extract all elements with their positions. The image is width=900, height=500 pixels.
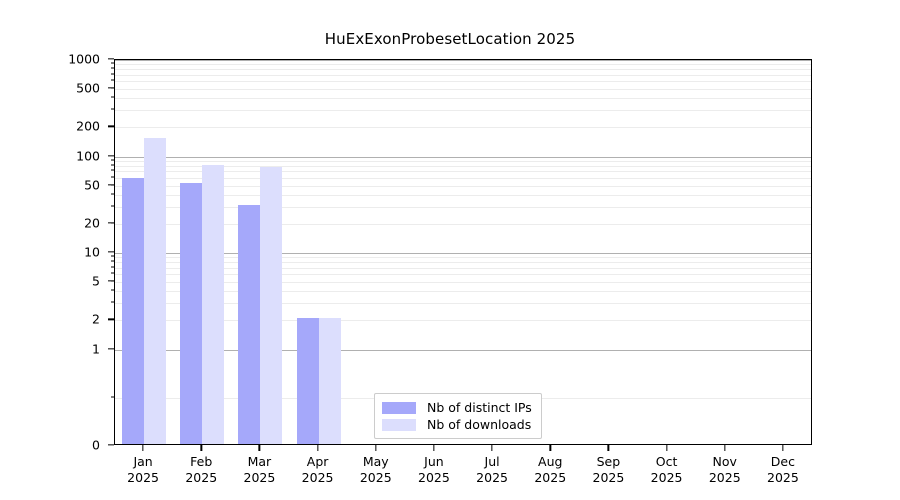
x-tick-mark	[608, 445, 609, 451]
y-tick-label: 2	[92, 312, 100, 327]
x-tick-label: Jun2025	[418, 454, 450, 486]
y-tick-label: 20	[84, 215, 100, 230]
x-tick-label: Dec2025	[767, 454, 799, 486]
bar-feb-2025-downloads	[202, 165, 224, 444]
y-tick-label: 200	[76, 119, 100, 134]
bar-feb-2025-ips	[180, 183, 202, 444]
legend-swatch-icon	[382, 419, 416, 431]
x-tick-label-month: Dec	[771, 454, 795, 469]
x-tick-label-month: Apr	[307, 454, 329, 469]
x-tick-label: Oct2025	[651, 454, 683, 486]
x-tick-mark	[201, 445, 202, 451]
chart-legend: Nb of distinct IPsNb of downloads	[374, 393, 542, 439]
x-tick-label-year: 2025	[651, 470, 683, 486]
bar-apr-2025-ips	[297, 318, 319, 444]
y-tick-label: 50	[84, 177, 100, 192]
legend-label: Nb of distinct IPs	[427, 400, 532, 415]
x-tick-mark	[724, 445, 725, 451]
bar-mar-2025-ips	[238, 205, 260, 444]
legend-item-downloads[interactable]: Nb of downloads	[382, 416, 532, 433]
legend-label: Nb of downloads	[427, 417, 531, 432]
bar-jan-2025-ips	[122, 178, 144, 444]
x-tick-label-month: Oct	[656, 454, 678, 469]
x-tick-mark	[550, 445, 551, 451]
x-tick-label-month: Feb	[190, 454, 212, 469]
y-axis: 01251020501002005001000	[0, 59, 114, 445]
page-title: HuExExonProbesetLocation 2025	[0, 30, 900, 48]
x-tick-label: Sep2025	[593, 454, 625, 486]
x-tick-label: Nov2025	[709, 454, 741, 486]
x-tick-label-year: 2025	[593, 470, 625, 486]
y-tick-label: 500	[76, 81, 100, 96]
x-tick-label-month: Sep	[597, 454, 621, 469]
legend-item-distinct-ips[interactable]: Nb of distinct IPs	[382, 399, 532, 416]
x-tick-label-month: Jul	[485, 454, 500, 469]
x-tick-mark	[259, 445, 260, 451]
y-tick-label: 1	[92, 341, 100, 356]
y-tick-label: 5	[92, 274, 100, 289]
x-tick-label: May2025	[360, 454, 392, 486]
x-tick-label-year: 2025	[244, 470, 276, 486]
bar-apr-2025-downloads	[319, 318, 341, 444]
x-tick-label-month: Jan	[133, 454, 152, 469]
x-tick-mark	[142, 445, 143, 451]
x-tick-label-year: 2025	[302, 470, 334, 486]
x-tick-label-month: Mar	[248, 454, 272, 469]
x-tick-mark	[666, 445, 667, 451]
y-tick-label: 1000	[68, 52, 100, 67]
x-tick-label-year: 2025	[418, 470, 450, 486]
x-tick-mark	[782, 445, 783, 451]
legend-swatch-icon	[382, 402, 416, 414]
plot-area	[114, 59, 812, 445]
x-tick-label: Jul2025	[476, 454, 508, 486]
x-tick-label-year: 2025	[476, 470, 508, 486]
x-tick-mark	[375, 445, 376, 451]
x-tick-label: Jan2025	[127, 454, 159, 486]
x-tick-label-year: 2025	[127, 470, 159, 486]
bar-mar-2025-downloads	[260, 167, 282, 444]
x-tick-label-year: 2025	[767, 470, 799, 486]
x-tick-label: Feb2025	[185, 454, 217, 486]
bars-layer	[115, 60, 811, 444]
x-tick-mark	[433, 445, 434, 451]
y-tick-label: 100	[76, 148, 100, 163]
x-tick-label-year: 2025	[185, 470, 217, 486]
bar-jan-2025-downloads	[144, 138, 166, 444]
x-tick-label-year: 2025	[709, 470, 741, 486]
x-tick-label-year: 2025	[360, 470, 392, 486]
x-axis: Jan2025Feb2025Mar2025Apr2025May2025Jun20…	[114, 445, 812, 500]
x-tick-mark	[317, 445, 318, 451]
x-tick-label-month: Nov	[713, 454, 737, 469]
x-tick-label: Aug2025	[534, 454, 566, 486]
x-tick-mark	[491, 445, 492, 451]
x-tick-label-month: Jun	[424, 454, 444, 469]
chart-figure: HuExExonProbesetLocation 2025 0125102050…	[0, 0, 900, 500]
x-tick-label-year: 2025	[534, 470, 566, 486]
y-tick-label: 10	[84, 245, 100, 260]
x-tick-label: Apr2025	[302, 454, 334, 486]
x-tick-label-month: May	[363, 454, 389, 469]
x-tick-label: Mar2025	[244, 454, 276, 486]
x-tick-label-month: Aug	[538, 454, 562, 469]
y-tick-label: 0	[92, 438, 100, 453]
